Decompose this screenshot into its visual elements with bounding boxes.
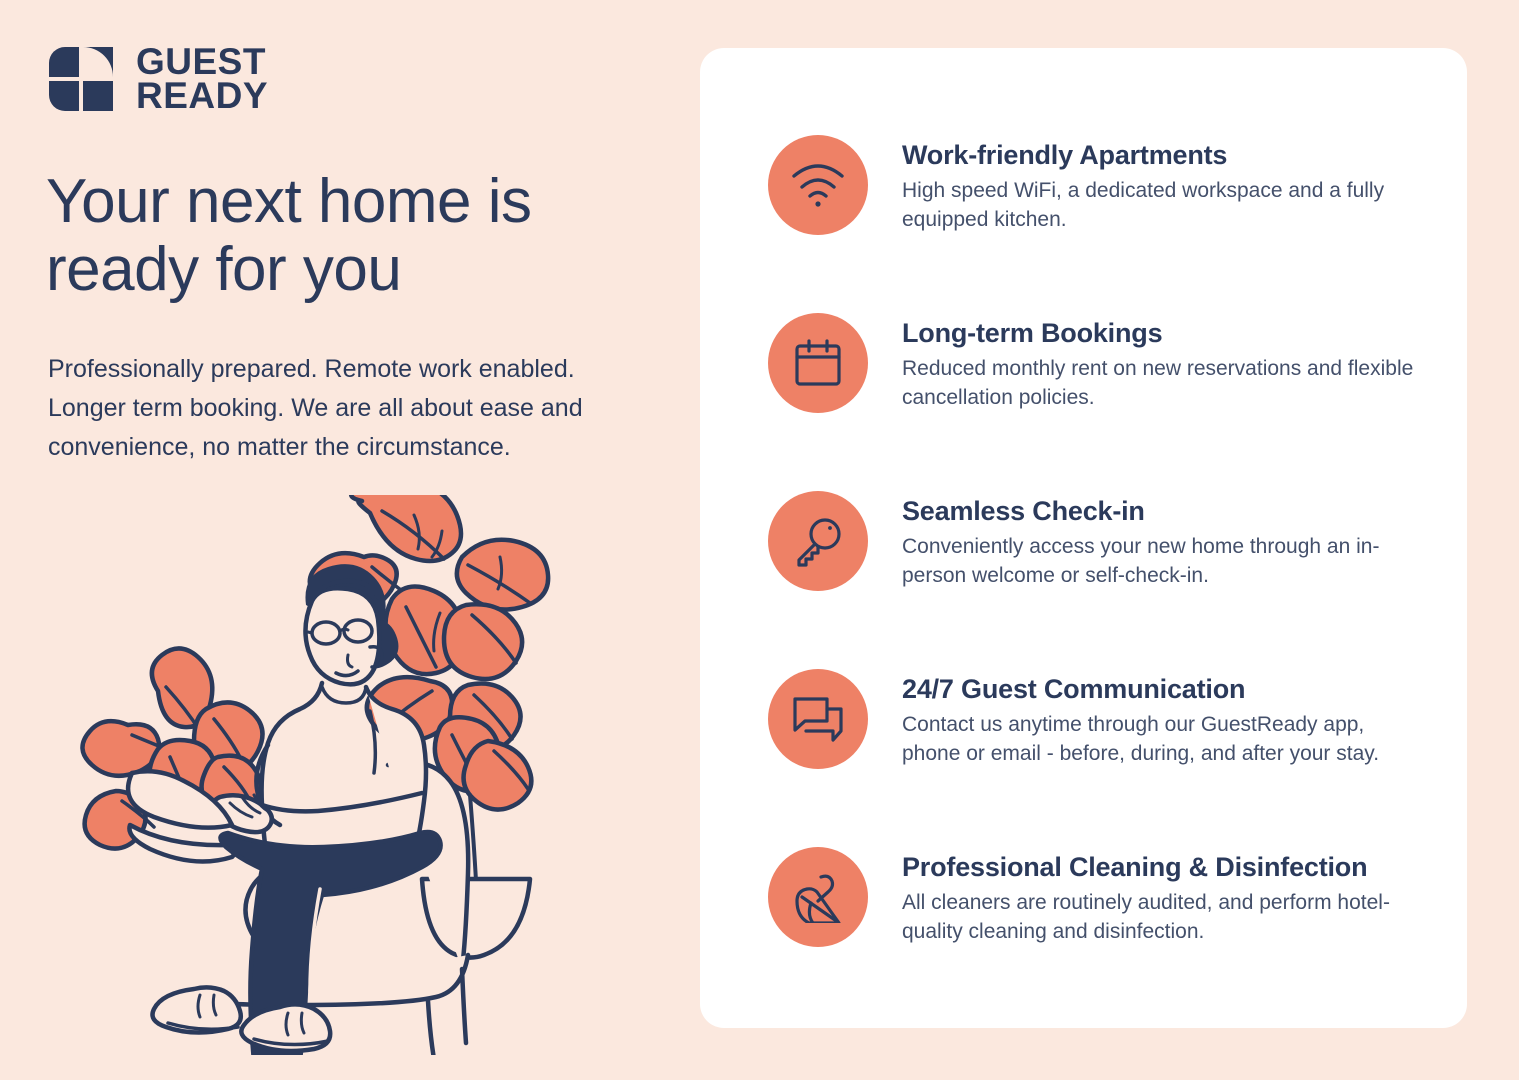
brand-logo[interactable]: GUEST READY (48, 45, 268, 113)
guestready-squares-logo-icon (48, 46, 114, 112)
feature-text: Seamless Check-in Conveniently access yo… (902, 491, 1428, 590)
feature-title: Professional Cleaning & Disinfection (902, 851, 1428, 883)
feature-description: High speed WiFi, a dedicated workspace a… (902, 177, 1428, 234)
features-card: Work-friendly Apartments High speed WiFi… (700, 48, 1467, 1028)
feature-description: Contact us anytime through our GuestRead… (902, 711, 1428, 768)
page-title: Your next home is ready for you (46, 168, 666, 304)
feature-text: Long-term Bookings Reduced monthly rent … (902, 313, 1428, 412)
feature-description: All cleaners are routinely audited, and … (902, 889, 1428, 946)
feature-title: Long-term Bookings (902, 317, 1428, 349)
hero-column: GUEST READY Your next home is ready for … (0, 0, 700, 1080)
feature-text: Work-friendly Apartments High speed WiFi… (902, 135, 1428, 234)
feature-item: Work-friendly Apartments High speed WiFi… (768, 135, 1428, 313)
feature-title: Work-friendly Apartments (902, 139, 1428, 171)
feature-item: Long-term Bookings Reduced monthly rent … (768, 313, 1428, 491)
feature-item: 24/7 Guest Communication Contact us anyt… (768, 669, 1428, 847)
hero-illustration (70, 495, 570, 1055)
wifi-icon (768, 135, 868, 235)
feature-list: Work-friendly Apartments High speed WiFi… (768, 135, 1428, 1025)
feature-description: Conveniently access your new home throug… (902, 533, 1428, 590)
feature-text: Professional Cleaning & Disinfection All… (902, 847, 1428, 946)
hero-subcopy: Professionally prepared. Remote work ena… (48, 350, 628, 467)
feature-title: 24/7 Guest Communication (902, 673, 1428, 705)
brand-name-line-2: READY (136, 79, 268, 113)
chat-bubbles-icon (768, 669, 868, 769)
feature-text: 24/7 Guest Communication Contact us anyt… (902, 669, 1428, 768)
feature-item: Seamless Check-in Conveniently access yo… (768, 491, 1428, 669)
feature-description: Reduced monthly rent on new reservations… (902, 355, 1428, 412)
brand-name-line-1: GUEST (136, 45, 268, 79)
feature-title: Seamless Check-in (902, 495, 1428, 527)
broom-icon (768, 847, 868, 947)
brand-wordmark: GUEST READY (136, 45, 268, 113)
feature-item: Professional Cleaning & Disinfection All… (768, 847, 1428, 1025)
calendar-icon (768, 313, 868, 413)
key-icon (768, 491, 868, 591)
